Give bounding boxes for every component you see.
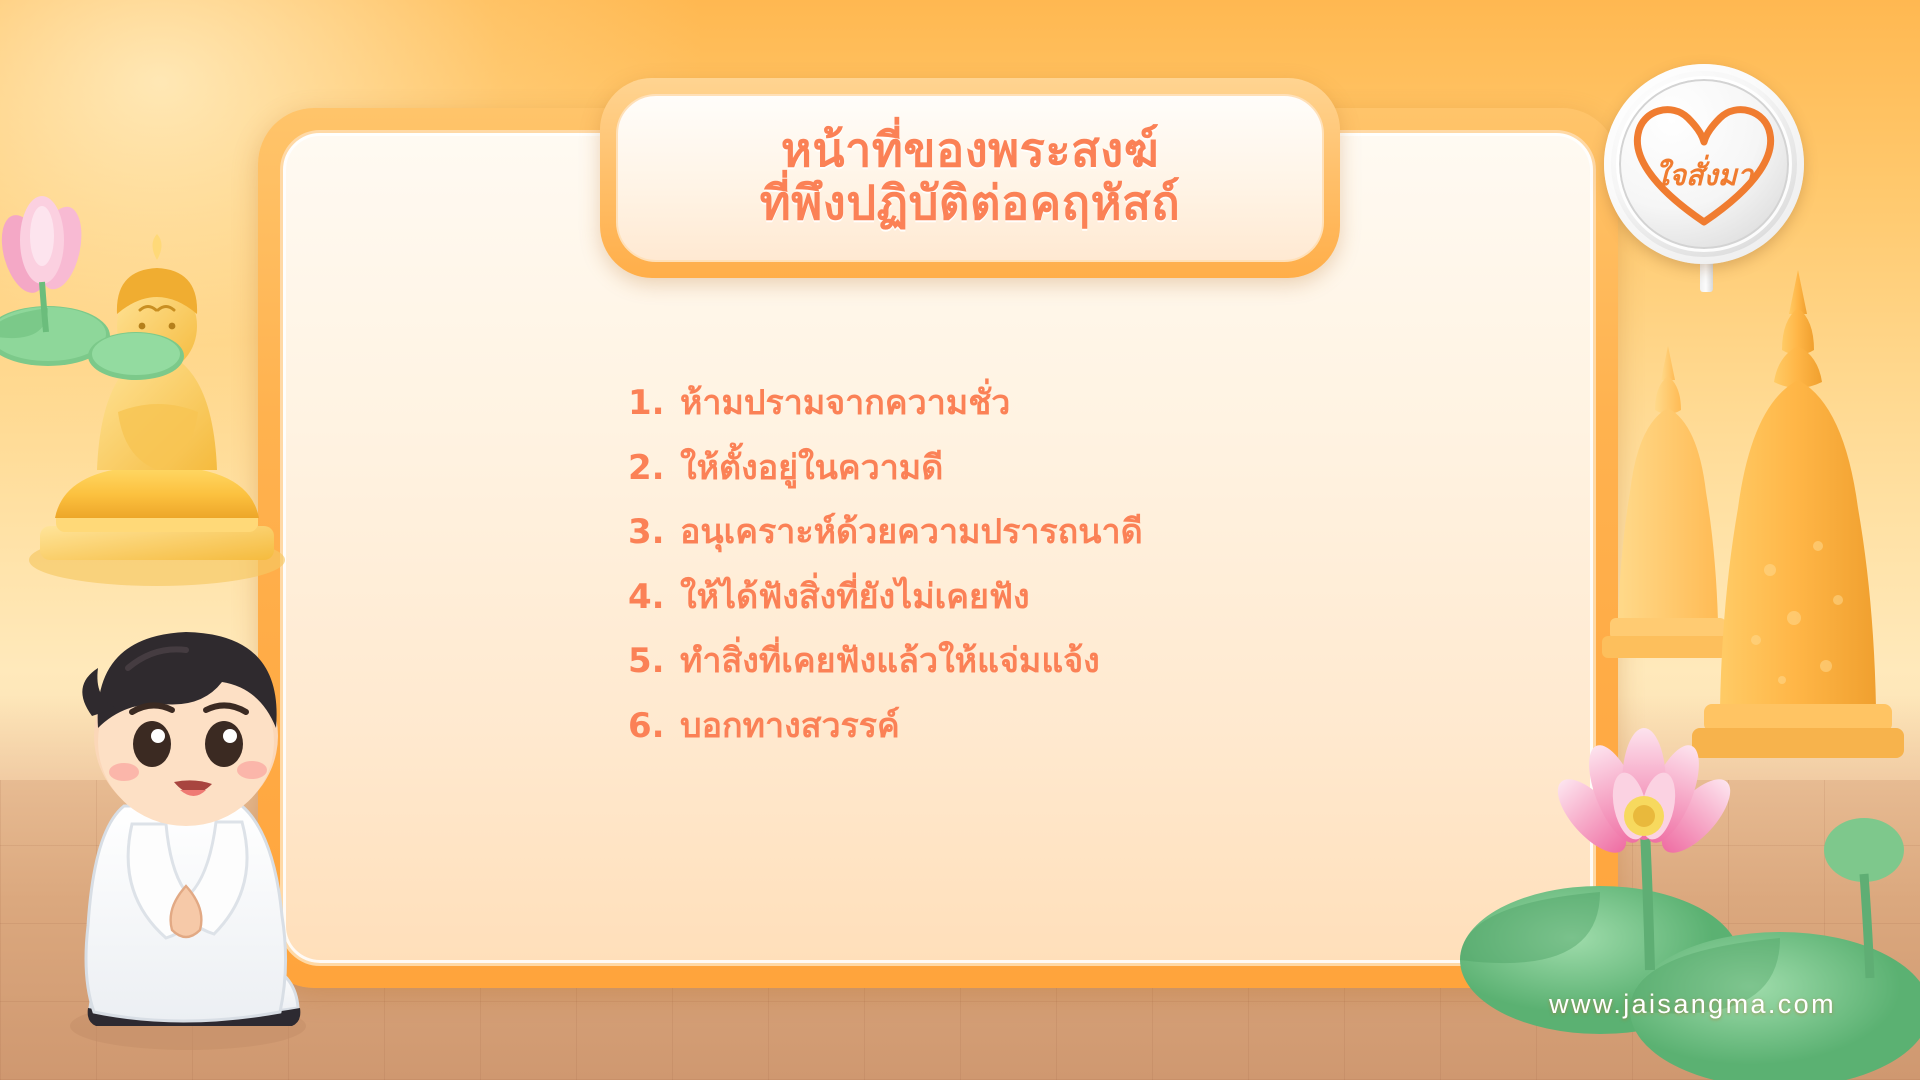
list-item-number: 1. bbox=[628, 383, 680, 423]
praying-boy-illustration bbox=[28, 556, 348, 1056]
list-item-label: ให้ได้ฟังสิ่งที่ยังไม่เคยฟัง bbox=[680, 576, 1030, 619]
list-item-number: 3. bbox=[628, 512, 680, 552]
list-item: 2. ให้ตั้งอยู่ในความดี bbox=[628, 447, 1143, 490]
list-item-number: 2. bbox=[628, 448, 680, 488]
list-item-number: 5. bbox=[628, 641, 680, 681]
page-title-line-2: ที่พึงปฏิบัติต่อคฤหัสถ์ bbox=[760, 178, 1180, 231]
logo-text: ใจสั่งมา bbox=[1604, 152, 1804, 198]
list-item: 3. อนุเคราะห์ด้วยความปรารถนาดี bbox=[628, 511, 1143, 554]
list-item-label: อนุเคราะห์ด้วยความปรารถนาดี bbox=[680, 511, 1143, 554]
badge-circle: ใจสั่งมา bbox=[1604, 64, 1804, 264]
lotus-flower-illustration bbox=[0, 196, 198, 386]
title-plaque-inner: หน้าที่ของพระสงฆ์ ที่พึงปฏิบัติต่อคฤหัสถ… bbox=[616, 94, 1324, 262]
list-item: 6. บอกทางสวรรค์ bbox=[628, 705, 1143, 748]
list-item-label: ทำสิ่งที่เคยฟังแล้วให้แจ่มแจ้ง bbox=[680, 640, 1100, 683]
page-title-line-1: หน้าที่ของพระสงฆ์ bbox=[781, 125, 1159, 178]
duties-list: 1. ห้ามปรามจากความชั่ว 2. ให้ตั้งอยู่ในค… bbox=[628, 382, 1143, 769]
poster-canvas: หน้าที่ของพระสงฆ์ ที่พึงปฏิบัติต่อคฤหัสถ… bbox=[0, 0, 1920, 1080]
list-item: 1. ห้ามปรามจากความชั่ว bbox=[628, 382, 1143, 425]
logo-badge[interactable]: ใจสั่งมา bbox=[1604, 64, 1804, 294]
list-item-label: ให้ตั้งอยู่ในความดี bbox=[680, 447, 943, 490]
list-item: 4. ให้ได้ฟังสิ่งที่ยังไม่เคยฟัง bbox=[628, 576, 1143, 619]
list-item-number: 4. bbox=[628, 577, 680, 617]
title-plaque: หน้าที่ของพระสงฆ์ ที่พึงปฏิบัติต่อคฤหัสถ… bbox=[600, 78, 1340, 278]
list-item-number: 6. bbox=[628, 706, 680, 746]
website-url[interactable]: www.jaisangma.com bbox=[1549, 989, 1836, 1020]
list-item: 5. ทำสิ่งที่เคยฟังแล้วให้แจ่มแจ้ง bbox=[628, 640, 1143, 683]
list-item-label: ห้ามปรามจากความชั่ว bbox=[680, 382, 1010, 425]
list-item-label: บอกทางสวรรค์ bbox=[680, 705, 900, 748]
